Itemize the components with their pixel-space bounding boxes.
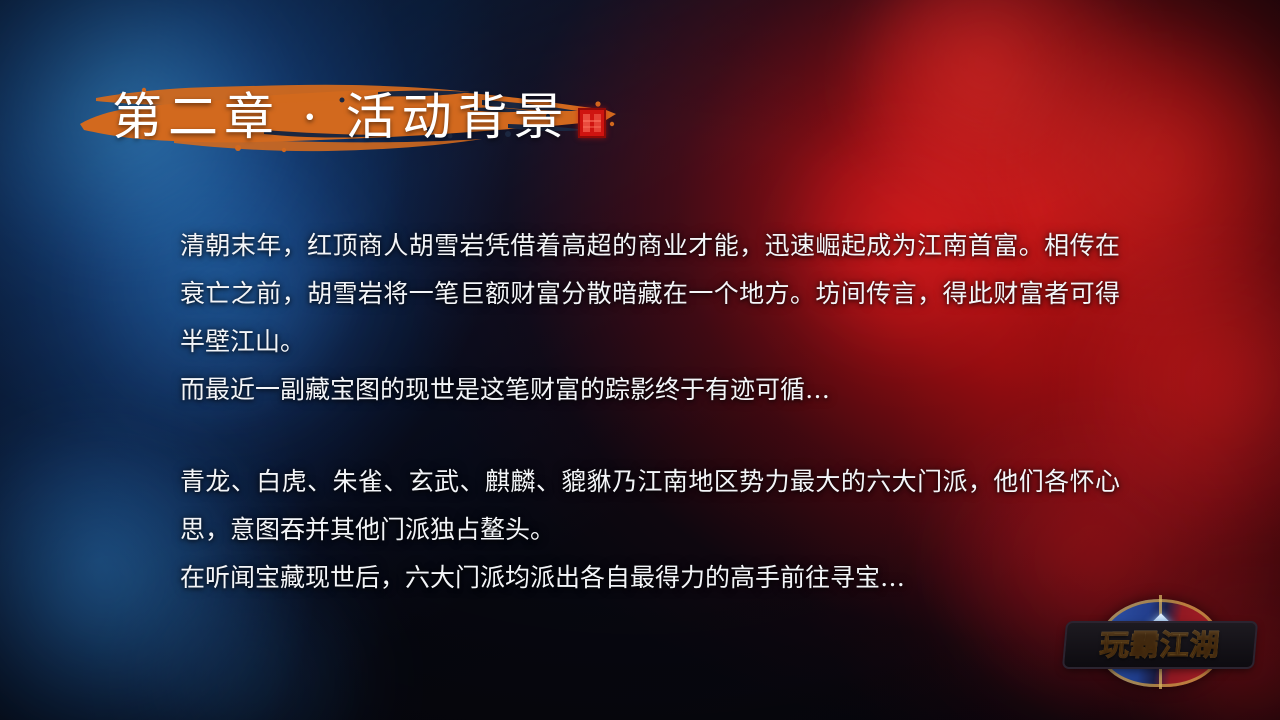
paragraph-2-closing-line: 在听闻宝藏现世后，六大门派均派出各自最得力的高手前往寻宝…	[180, 554, 1120, 602]
logo-text: 玩霸江湖	[1058, 623, 1262, 667]
paragraph-2: 青龙、白虎、朱雀、玄武、麒麟、貔貅乃江南地区势力最大的六大门派，他们各怀心思，意…	[180, 458, 1120, 554]
paragraph-1-closing-line: 而最近一副藏宝图的现世是这笔财富的踪影终于有迹可循…	[180, 366, 1120, 414]
paragraph-spacer	[180, 414, 1120, 458]
presentation-slide: 第二章 · 活动背景 清朝末年，红顶商人胡雪岩凭借着高超的商业才能，迅速崛起成为…	[0, 0, 1280, 720]
body-text-block: 清朝末年，红顶商人胡雪岩凭借着高超的商业才能，迅速崛起成为江南首富。相传在衰亡之…	[180, 222, 1120, 602]
red-seal-stamp-icon	[578, 108, 606, 138]
paragraph-1: 清朝末年，红顶商人胡雪岩凭借着高超的商业才能，迅速崛起成为江南首富。相传在衰亡之…	[180, 222, 1120, 366]
page-title: 第二章 · 活动背景	[112, 78, 570, 156]
brand-logo: 玩霸江湖	[1060, 597, 1260, 693]
slide-title-block: 第二章 · 活动背景	[78, 72, 698, 164]
